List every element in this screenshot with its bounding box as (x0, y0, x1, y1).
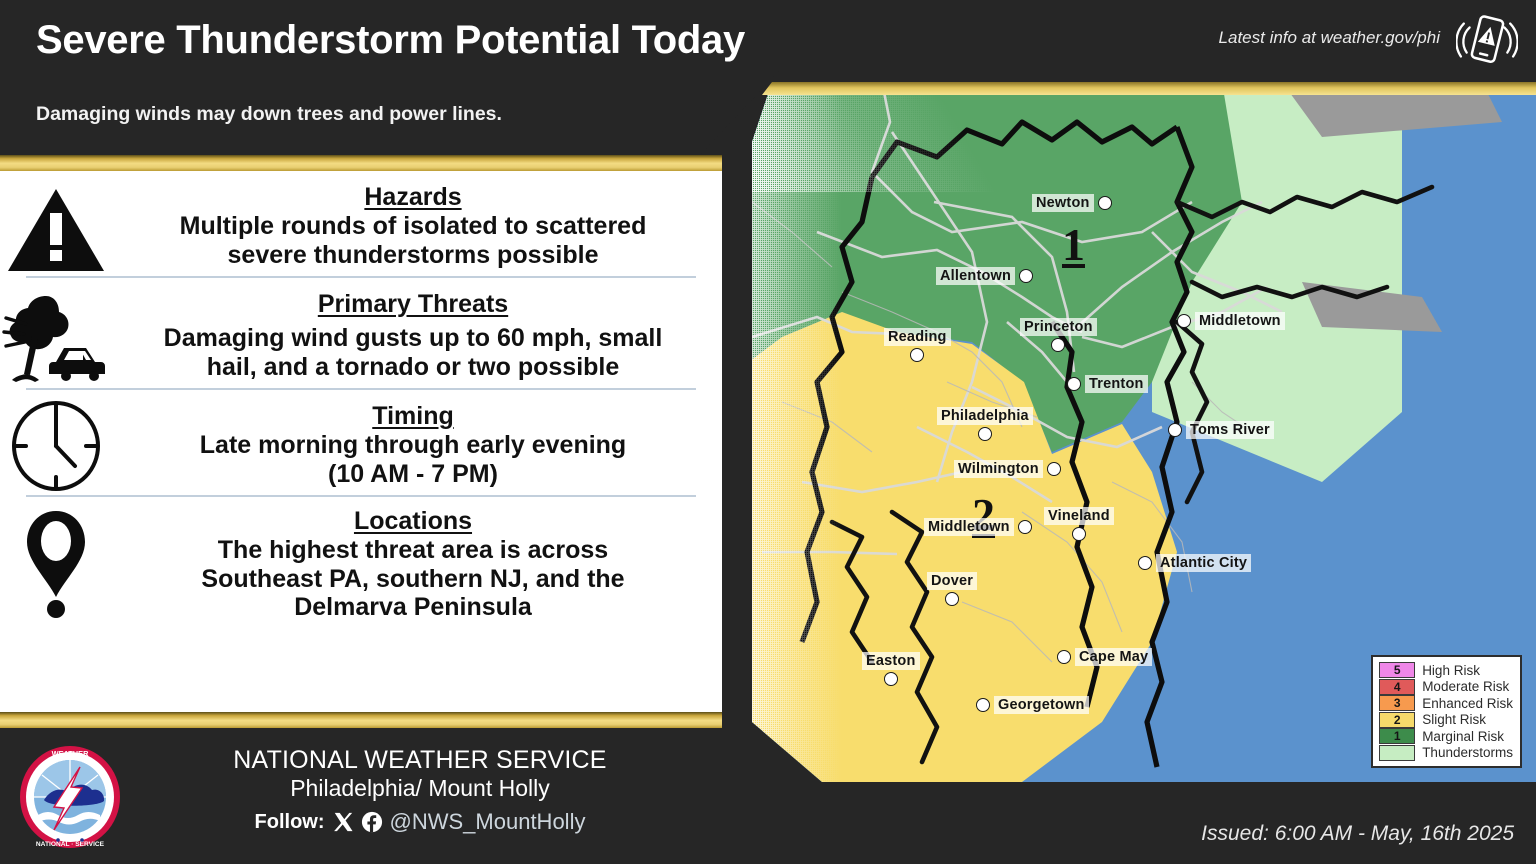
city-dot (1138, 556, 1152, 570)
city-label: Philadelphia (937, 407, 1033, 425)
city-dot (1051, 338, 1065, 352)
city-dot (976, 698, 990, 712)
legend-row-slight-risk: 2 Slight Risk (1379, 712, 1513, 729)
section-line: Southeast PA, southern NJ, and the (118, 565, 708, 594)
city-marker-trenton: Trenton (1067, 375, 1148, 393)
footer-bar: WEATHER NATIONAL · SERVICE NATIONAL WEAT… (0, 728, 722, 864)
risk-label-1: 1 (1062, 222, 1085, 268)
location-pin-icon (0, 509, 112, 619)
legend-swatch-number: 2 (1394, 714, 1401, 726)
info-panel: Hazards Multiple rounds of isolated to s… (0, 171, 722, 712)
city-marker-dover: Dover (927, 572, 977, 606)
city-marker-atlantic-city: Atlantic City (1138, 554, 1251, 572)
office-name: NATIONAL WEATHER SERVICE (140, 746, 700, 775)
city-label: Easton (862, 652, 920, 670)
legend-label: Marginal Risk (1422, 729, 1504, 744)
city-marker-philadelphia: Philadelphia (937, 407, 1033, 441)
section-heading: Timing (118, 402, 708, 431)
city-marker-middletown-nj: Middletown (1177, 312, 1285, 330)
section-line: Multiple rounds of isolated to scattered (118, 212, 708, 241)
city-marker-wilmington: Wilmington (954, 460, 1061, 478)
section-line: hail, and a tornado or two possible (118, 353, 708, 382)
city-label: Middletown (924, 518, 1014, 536)
facebook-icon[interactable] (361, 811, 383, 833)
city-dot (884, 672, 898, 686)
legend-row-high-risk: 5 High Risk (1379, 662, 1513, 679)
map-legend: 5 High Risk 4 Moderate Risk 3 Enhanced R… (1371, 655, 1522, 768)
city-label: Dover (927, 572, 977, 590)
legend-row-marginal-risk: 1 Marginal Risk (1379, 728, 1513, 745)
city-marker-cape-may: Cape May (1057, 648, 1152, 666)
legend-swatch-number: 3 (1394, 697, 1401, 709)
city-label: Atlantic City (1156, 554, 1251, 572)
legend-swatch: 5 (1379, 662, 1415, 678)
gold-divider-bottom (0, 712, 722, 728)
section-timing: Timing Late morning through early evenin… (0, 396, 722, 488)
section-heading: Primary Threats (118, 290, 708, 319)
legend-swatch-number: 1 (1394, 730, 1401, 742)
legend-label: Enhanced Risk (1422, 696, 1513, 711)
gold-divider-top (0, 155, 722, 171)
legend-row-enhanced-risk: 3 Enhanced Risk (1379, 695, 1513, 712)
city-label: Georgetown (994, 696, 1089, 714)
graphic-root: 1 2 Newton Allentown Reading Princeton M… (0, 0, 1536, 864)
city-dot (910, 348, 924, 362)
city-marker-vineland: Vineland (1044, 507, 1114, 541)
legend-swatch: 1 (1379, 728, 1415, 744)
svg-text:NATIONAL · SERVICE: NATIONAL · SERVICE (36, 841, 105, 848)
legend-swatch: 3 (1379, 695, 1415, 711)
clock-icon (0, 400, 112, 492)
svg-text:WEATHER: WEATHER (52, 749, 89, 758)
city-dot (978, 427, 992, 441)
follow-label: Follow: (255, 811, 325, 834)
legend-row-moderate-risk: 4 Moderate Risk (1379, 679, 1513, 696)
city-dot (1098, 196, 1112, 210)
phone-alert-icon (1456, 12, 1518, 70)
map-top-gold-bar (722, 82, 1536, 95)
city-label: Allentown (936, 267, 1015, 285)
city-label: Wilmington (954, 460, 1043, 478)
page-title: Severe Thunderstorm Potential Today (36, 18, 745, 63)
section-line: Damaging wind gusts up to 60 mph, small (118, 324, 708, 353)
city-label: Trenton (1085, 375, 1148, 393)
legend-swatch-number: 5 (1394, 664, 1401, 676)
office-location: Philadelphia/ Mount Holly (140, 775, 700, 802)
city-marker-allentown: Allentown (936, 267, 1033, 285)
city-marker-easton: Easton (862, 652, 920, 686)
city-dot (945, 592, 959, 606)
section-divider (26, 388, 696, 390)
section-divider (26, 495, 696, 497)
section-line: (10 AM - 7 PM) (118, 460, 708, 489)
city-dot (1072, 527, 1086, 541)
social-handle[interactable]: @NWS_MountHolly (390, 809, 586, 835)
legend-swatch: 2 (1379, 712, 1415, 728)
section-heading: Hazards (118, 183, 708, 212)
city-label: Reading (884, 328, 951, 346)
section-line: The highest threat area is across (118, 536, 708, 565)
risk-map: 1 2 Newton Allentown Reading Princeton M… (722, 82, 1536, 782)
latest-info-text: Latest info at weather.gov/phi (1219, 28, 1440, 48)
city-dot (1168, 423, 1182, 437)
section-divider (26, 276, 696, 278)
city-marker-toms-river: Toms River (1168, 421, 1274, 439)
section-locations: Locations The highest threat area is acr… (0, 503, 722, 622)
nws-seal-icon: WEATHER NATIONAL · SERVICE (18, 745, 122, 849)
city-marker-newton: Newton (1032, 194, 1112, 212)
city-marker-princeton: Princeton (1020, 318, 1097, 352)
legend-swatch: 4 (1379, 679, 1415, 695)
city-dot (1018, 520, 1032, 534)
legend-swatch-number: 4 (1394, 681, 1401, 693)
section-line: severe thunderstorms possible (118, 241, 708, 270)
section-line: Delmarva Peninsula (118, 593, 708, 622)
tree-fallen-on-car-icon (0, 290, 112, 382)
footer-text: NATIONAL WEATHER SERVICE Philadelphia/ M… (140, 746, 700, 835)
city-marker-reading: Reading (884, 328, 951, 362)
legend-label: Moderate Risk (1422, 679, 1509, 694)
x-twitter-icon[interactable] (332, 811, 354, 833)
city-label: Middletown (1195, 312, 1285, 330)
page-subtitle: Damaging winds may down trees and power … (36, 103, 502, 126)
city-label: Toms River (1186, 421, 1274, 439)
legend-swatch (1379, 745, 1415, 761)
section-line: Late morning through early evening (118, 431, 708, 460)
legend-label: Thunderstorms (1422, 745, 1513, 760)
section-hazards: Hazards Multiple rounds of isolated to s… (0, 171, 722, 269)
city-marker-middletown-de: Middletown (924, 518, 1032, 536)
section-primary-threats: Primary Threats Damaging wind gusts up t… (0, 284, 722, 381)
issued-timestamp: Issued: 6:00 AM - May, 16th 2025 (1201, 822, 1514, 846)
map-edge-fade-bottom (722, 82, 1052, 192)
warning-triangle-icon (0, 187, 112, 273)
city-dot (1019, 269, 1033, 283)
city-dot (1177, 314, 1191, 328)
city-label: Vineland (1044, 507, 1114, 525)
legend-label: High Risk (1422, 663, 1480, 678)
legend-row-thunderstorms: Thunderstorms (1379, 745, 1513, 762)
city-label: Cape May (1075, 648, 1152, 666)
follow-row: Follow: @NWS_MountHolly (140, 809, 700, 835)
city-dot (1047, 462, 1061, 476)
city-label: Princeton (1020, 318, 1097, 336)
city-marker-georgetown: Georgetown (976, 696, 1089, 714)
legend-label: Slight Risk (1422, 712, 1486, 727)
city-label: Newton (1032, 194, 1094, 212)
section-heading: Locations (118, 507, 708, 536)
city-dot (1067, 377, 1081, 391)
city-dot (1057, 650, 1071, 664)
